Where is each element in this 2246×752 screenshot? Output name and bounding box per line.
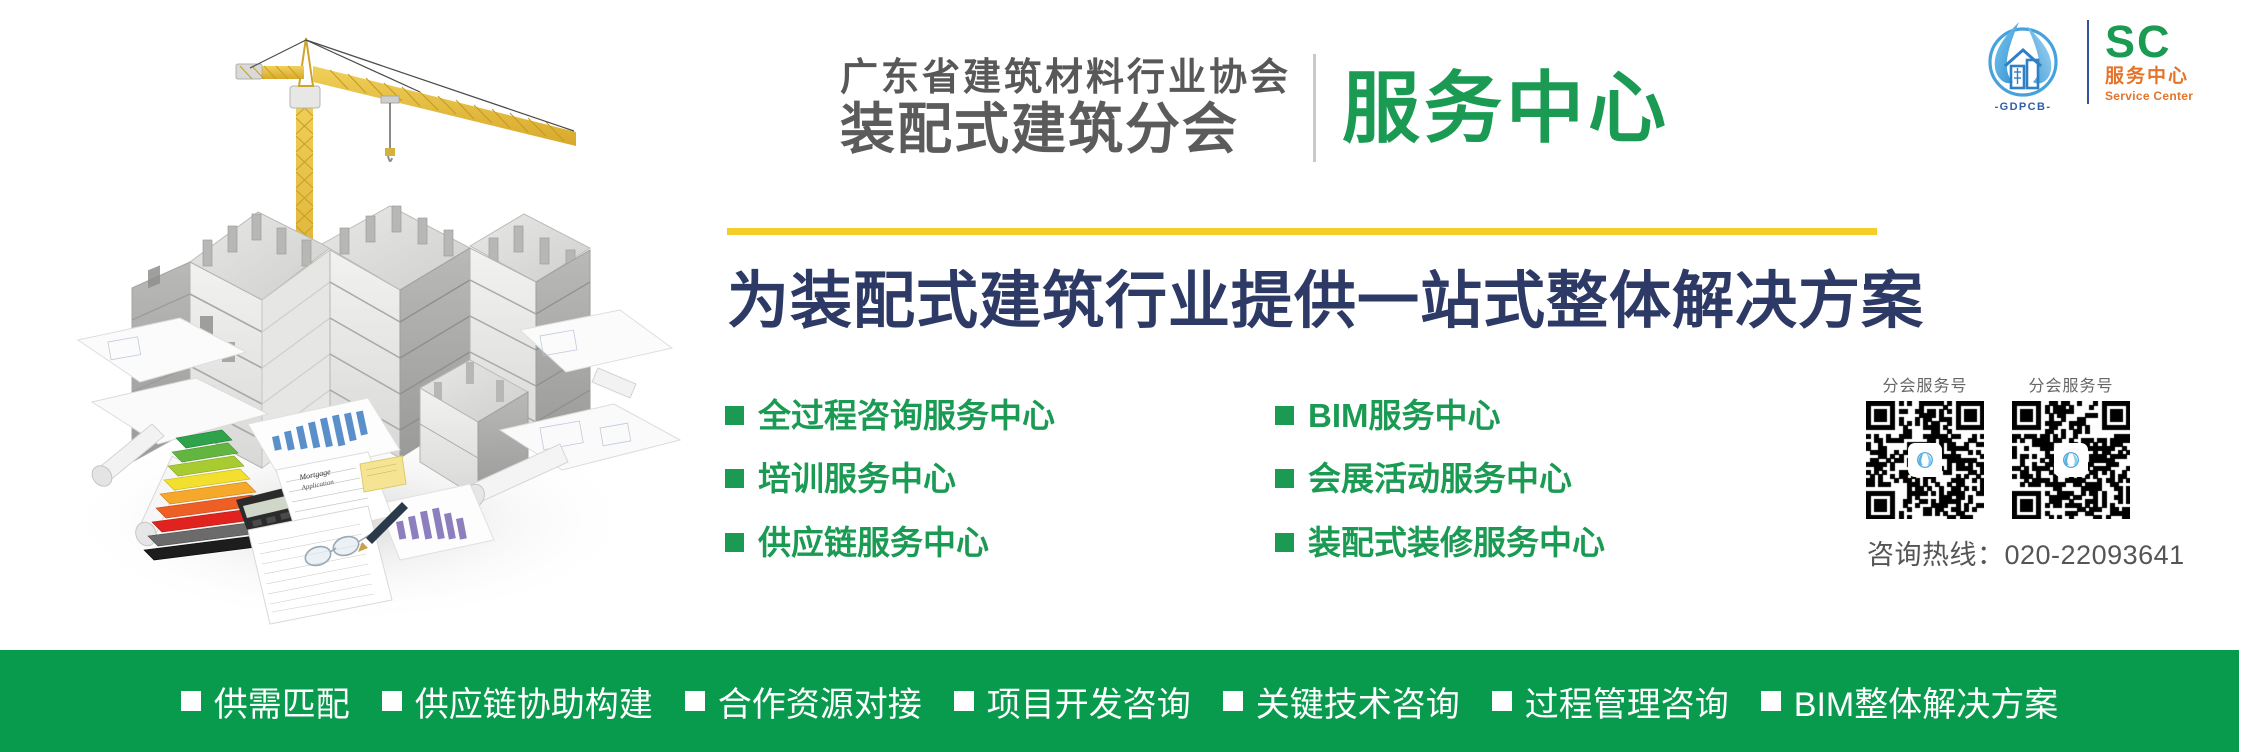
logo-lockup: -GDPCB- SC 服务中心 Service Center — [1975, 14, 2193, 110]
service-label: 培训服务中心 — [758, 458, 956, 499]
construction-site-illustration: Mortgage Application — [0, 0, 700, 645]
square-bullet-icon — [382, 691, 402, 711]
header-title-row: 广东省建筑材料行业协会 装配式建筑分会 服务中心 — [840, 48, 1670, 168]
association-name-block: 广东省建筑材料行业协会 装配式建筑分会 — [840, 58, 1291, 159]
banner-root: Mortgage Application — [0, 0, 2246, 752]
footer-label: 过程管理咨询 — [1525, 677, 1729, 726]
list-item[interactable]: 全过程咨询服务中心 — [725, 395, 1125, 436]
sc-chinese-label: 服务中心 — [2105, 65, 2189, 89]
list-item[interactable]: 会展活动服务中心 — [1275, 458, 1605, 499]
slogan-text: 为装配式建筑行业提供一站式整体解决方案 — [727, 250, 1897, 340]
square-bullet-icon — [1761, 691, 1781, 711]
service-center-heading: 服务中心 — [1342, 69, 1670, 147]
list-item[interactable]: 过程管理咨询 — [1492, 677, 1729, 726]
footer-label: 供需匹配 — [214, 677, 350, 726]
square-bullet-icon — [954, 691, 974, 711]
service-label: 装配式装修服务中心 — [1308, 522, 1605, 563]
qr-code-image-2[interactable] — [2012, 401, 2130, 519]
gold-divider-rule — [727, 228, 1877, 235]
list-item[interactable]: BIM服务中心 — [1275, 395, 1605, 436]
qr-row: 分会服务号 分会服务号 — [1865, 372, 2231, 519]
square-bullet-icon — [1275, 406, 1294, 425]
sc-initials: SC — [2105, 21, 2172, 64]
list-item[interactable]: 供应链服务中心 — [725, 522, 1125, 563]
gdpcb-abbreviation: -GDPCB- — [1975, 101, 2071, 113]
list-item[interactable]: 装配式装修服务中心 — [1275, 522, 1605, 563]
list-item[interactable]: 关键技术咨询 — [1223, 677, 1460, 726]
list-item[interactable]: BIM整体解决方案 — [1761, 677, 2058, 726]
footer-keyword-bar: 供需匹配 供应链协助构建 合作资源对接 项目开发咨询 关键技术咨询 过程管理咨询 — [0, 650, 2239, 752]
service-list-right-column: BIM服务中心 会展活动服务中心 装配式装修服务中心 — [1275, 395, 1605, 563]
square-bullet-icon — [1492, 691, 1512, 711]
qr-cell: 分会服务号 — [2011, 372, 2131, 519]
list-item[interactable]: 供需匹配 — [181, 677, 350, 726]
service-list-left-column: 全过程咨询服务中心 培训服务中心 供应链服务中心 — [725, 395, 1125, 563]
qr-center-logo — [2056, 445, 2086, 475]
title-vertical-divider — [1313, 54, 1316, 162]
square-bullet-icon — [181, 691, 201, 711]
sc-english-label: Service Center — [2105, 89, 2193, 103]
service-center-list: 全过程咨询服务中心 培训服务中心 供应链服务中心 BIM服务中心 会展活动服务中… — [725, 395, 1605, 563]
footer-label: BIM整体解决方案 — [1794, 677, 2058, 726]
service-label: 全过程咨询服务中心 — [758, 395, 1055, 436]
service-label: 供应链服务中心 — [758, 522, 989, 563]
qr-cell: 分会服务号 — [1865, 372, 1985, 519]
association-name-line1: 广东省建筑材料行业协会 — [840, 58, 1291, 99]
list-item[interactable]: 合作资源对接 — [685, 677, 922, 726]
qr-center-logo — [1910, 445, 1940, 475]
sc-wordmark: SC 服务中心 Service Center — [2105, 21, 2193, 104]
footer-items: 供需匹配 供应链协助构建 合作资源对接 项目开发咨询 关键技术咨询 过程管理咨询 — [181, 677, 2058, 726]
qr-caption: 分会服务号 — [1882, 372, 1967, 396]
service-label: 会展活动服务中心 — [1308, 458, 1572, 499]
logo-vertical-divider — [2087, 20, 2089, 104]
footer-label: 项目开发咨询 — [987, 677, 1191, 726]
square-bullet-icon — [1275, 469, 1294, 488]
footer-label: 供应链协助构建 — [415, 677, 653, 726]
footer-label: 关键技术咨询 — [1256, 677, 1460, 726]
service-label: BIM服务中心 — [1308, 395, 1501, 436]
list-item[interactable]: 供应链协助构建 — [382, 677, 653, 726]
qr-contact-block: 分会服务号 分会服务号 咨询热线：020-22093641 — [1865, 372, 2231, 572]
qr-code-image-1[interactable] — [1866, 401, 1984, 519]
list-item[interactable]: 项目开发咨询 — [954, 677, 1191, 726]
square-bullet-icon — [725, 533, 744, 552]
gdpcb-flame-house-icon: -GDPCB- — [1975, 14, 2071, 110]
footer-label: 合作资源对接 — [718, 677, 922, 726]
hotline-text: 咨询热线：020-22093641 — [1865, 533, 2231, 572]
square-bullet-icon — [685, 691, 705, 711]
qr-caption: 分会服务号 — [2028, 372, 2113, 396]
square-bullet-icon — [1223, 691, 1243, 711]
association-branch-name: 装配式建筑分会 — [840, 101, 1291, 159]
list-item[interactable]: 培训服务中心 — [725, 458, 1125, 499]
square-bullet-icon — [725, 469, 744, 488]
square-bullet-icon — [725, 406, 744, 425]
square-bullet-icon — [1275, 533, 1294, 552]
